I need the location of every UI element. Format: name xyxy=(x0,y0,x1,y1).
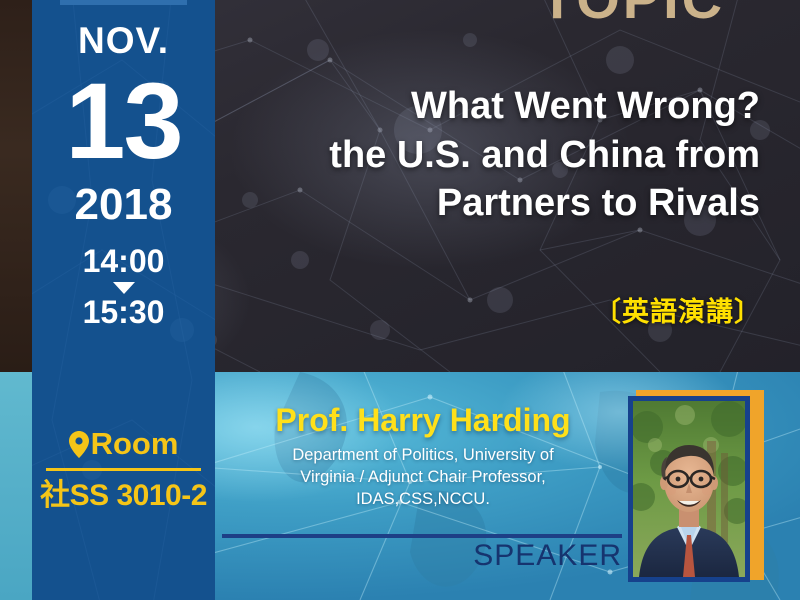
affiliation-line-3: IDAS,CSS,NCCU. xyxy=(222,489,624,511)
speaker-portrait-image xyxy=(633,401,745,577)
panel-top-accent-line xyxy=(60,0,187,5)
time-start: 14:00 xyxy=(32,245,215,279)
triangle-down-icon xyxy=(113,282,135,294)
title-line-1: What Went Wrong? xyxy=(240,82,760,131)
speaker-section-label: SPEAKER xyxy=(222,540,622,572)
speaker-photo xyxy=(628,396,756,586)
speaker-divider xyxy=(222,534,622,538)
affiliation-line-1: Department of Politics, University of xyxy=(222,445,624,467)
topic-heading: TOPIC xyxy=(540,0,725,31)
speaker-affiliation: Department of Politics, University of Vi… xyxy=(222,445,624,510)
date-year: 2018 xyxy=(32,183,215,227)
room-label: Room xyxy=(91,428,179,459)
date-location-panel: NOV. 13 2018 14:00 15:30 Room 社SS 3010-2 xyxy=(32,0,215,600)
left-edge-strip-top xyxy=(0,0,32,372)
affiliation-line-2: Virginia / Adjunct Chair Professor, xyxy=(222,467,624,489)
event-room: Room 社SS 3010-2 xyxy=(32,428,215,511)
speaker-info: Prof. Harry Harding Department of Politi… xyxy=(222,404,624,510)
page-title: What Went Wrong? the U.S. and China from… xyxy=(240,82,760,228)
room-heading: Room xyxy=(32,428,215,459)
language-tag: 〔英語演講〕 xyxy=(594,290,762,329)
photo-frame xyxy=(628,396,750,582)
time-end: 15:30 xyxy=(32,296,215,330)
title-line-3: Partners to Rivals xyxy=(240,179,760,228)
event-date: NOV. 13 2018 14:00 15:30 xyxy=(32,8,215,329)
room-value: 社SS 3010-2 xyxy=(32,481,215,511)
title-line-2: the U.S. and China from xyxy=(240,131,760,180)
date-month: NOV. xyxy=(32,22,215,59)
event-poster: TOPIC What Went Wrong? the U.S. and Chin… xyxy=(0,0,800,600)
speaker-name: Prof. Harry Harding xyxy=(222,404,624,436)
left-edge-strip-bottom xyxy=(0,372,32,600)
date-day: 13 xyxy=(32,67,215,175)
room-divider xyxy=(46,468,201,471)
location-pin-icon xyxy=(69,431,89,458)
